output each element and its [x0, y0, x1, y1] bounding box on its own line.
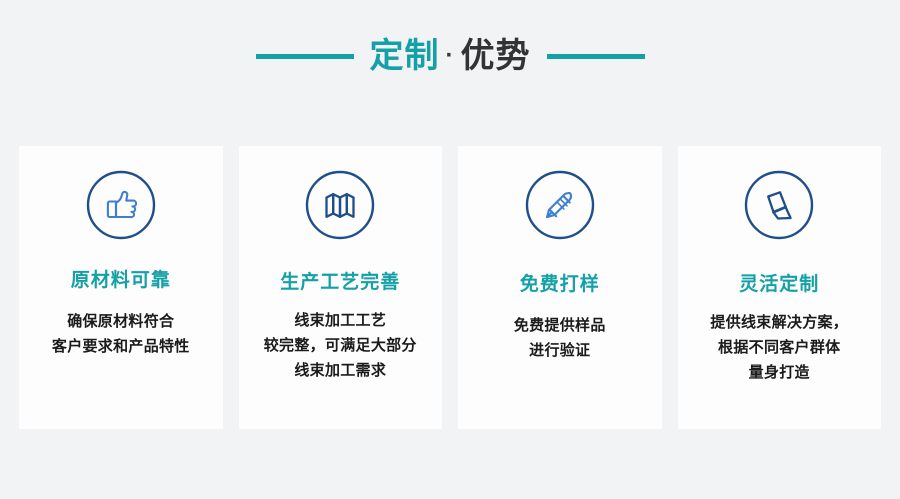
feature-card-title: 灵活定制 [739, 275, 819, 294]
feature-cards-row: 原材料可靠 确保原材料符合 客户要求和产品特性 生产工艺完善 线束加工工艺 较完… [19, 146, 881, 429]
feature-card-body-line: 免费提供样品 [465, 313, 655, 338]
feature-card-body-line: 提供线束解决方案， [684, 310, 874, 335]
feature-card-body-line: 线束加工工艺 [245, 308, 435, 333]
feature-card-body-line: 根据不同客户群体 [684, 335, 874, 360]
feature-card-body-line: 客户要求和产品特性 [26, 334, 216, 359]
two-pages-icon [742, 168, 816, 242]
feature-card-production-process[interactable]: 生产工艺完善 线束加工工艺 较完整，可满足大部分 线束加工需求 [239, 146, 443, 429]
feature-card-body: 线束加工工艺 较完整，可满足大部分 线束加工需求 [245, 308, 435, 383]
pencil-icon [523, 168, 597, 242]
page-title: 定制 · 优势 [370, 39, 531, 73]
feature-card-flexible-customization[interactable]: 灵活定制 提供线束解决方案， 根据不同客户群体 量身打造 [678, 146, 882, 429]
feature-card-title: 原材料可靠 [71, 271, 171, 290]
feature-card-body: 免费提供样品 进行验证 [465, 313, 655, 363]
feature-card-title: 免费打样 [520, 275, 600, 294]
feature-card-free-sample[interactable]: 免费打样 免费提供样品 进行验证 [458, 146, 662, 429]
feature-card-body: 提供线束解决方案， 根据不同客户群体 量身打造 [684, 310, 874, 385]
title-rule-left [256, 54, 354, 59]
page-title-accent: 定制 [370, 39, 440, 73]
feature-card-body-line: 较完整，可满足大部分 [245, 333, 435, 358]
feature-card-body-line: 线束加工需求 [245, 358, 435, 383]
section-header: 定制 · 优势 [0, 28, 900, 84]
thumbs-up-icon [84, 168, 158, 242]
page-title-separator: · [440, 44, 461, 68]
feature-card-raw-material[interactable]: 原材料可靠 确保原材料符合 客户要求和产品特性 [19, 146, 223, 429]
feature-card-title: 生产工艺完善 [280, 273, 400, 292]
page-title-dark: 优势 [461, 39, 531, 73]
feature-card-body: 确保原材料符合 客户要求和产品特性 [26, 309, 216, 359]
folded-map-icon [303, 168, 377, 242]
title-rule-right [547, 54, 645, 59]
feature-card-body-line: 量身打造 [684, 360, 874, 385]
feature-card-body-line: 确保原材料符合 [26, 309, 216, 334]
feature-card-body-line: 进行验证 [465, 338, 655, 363]
